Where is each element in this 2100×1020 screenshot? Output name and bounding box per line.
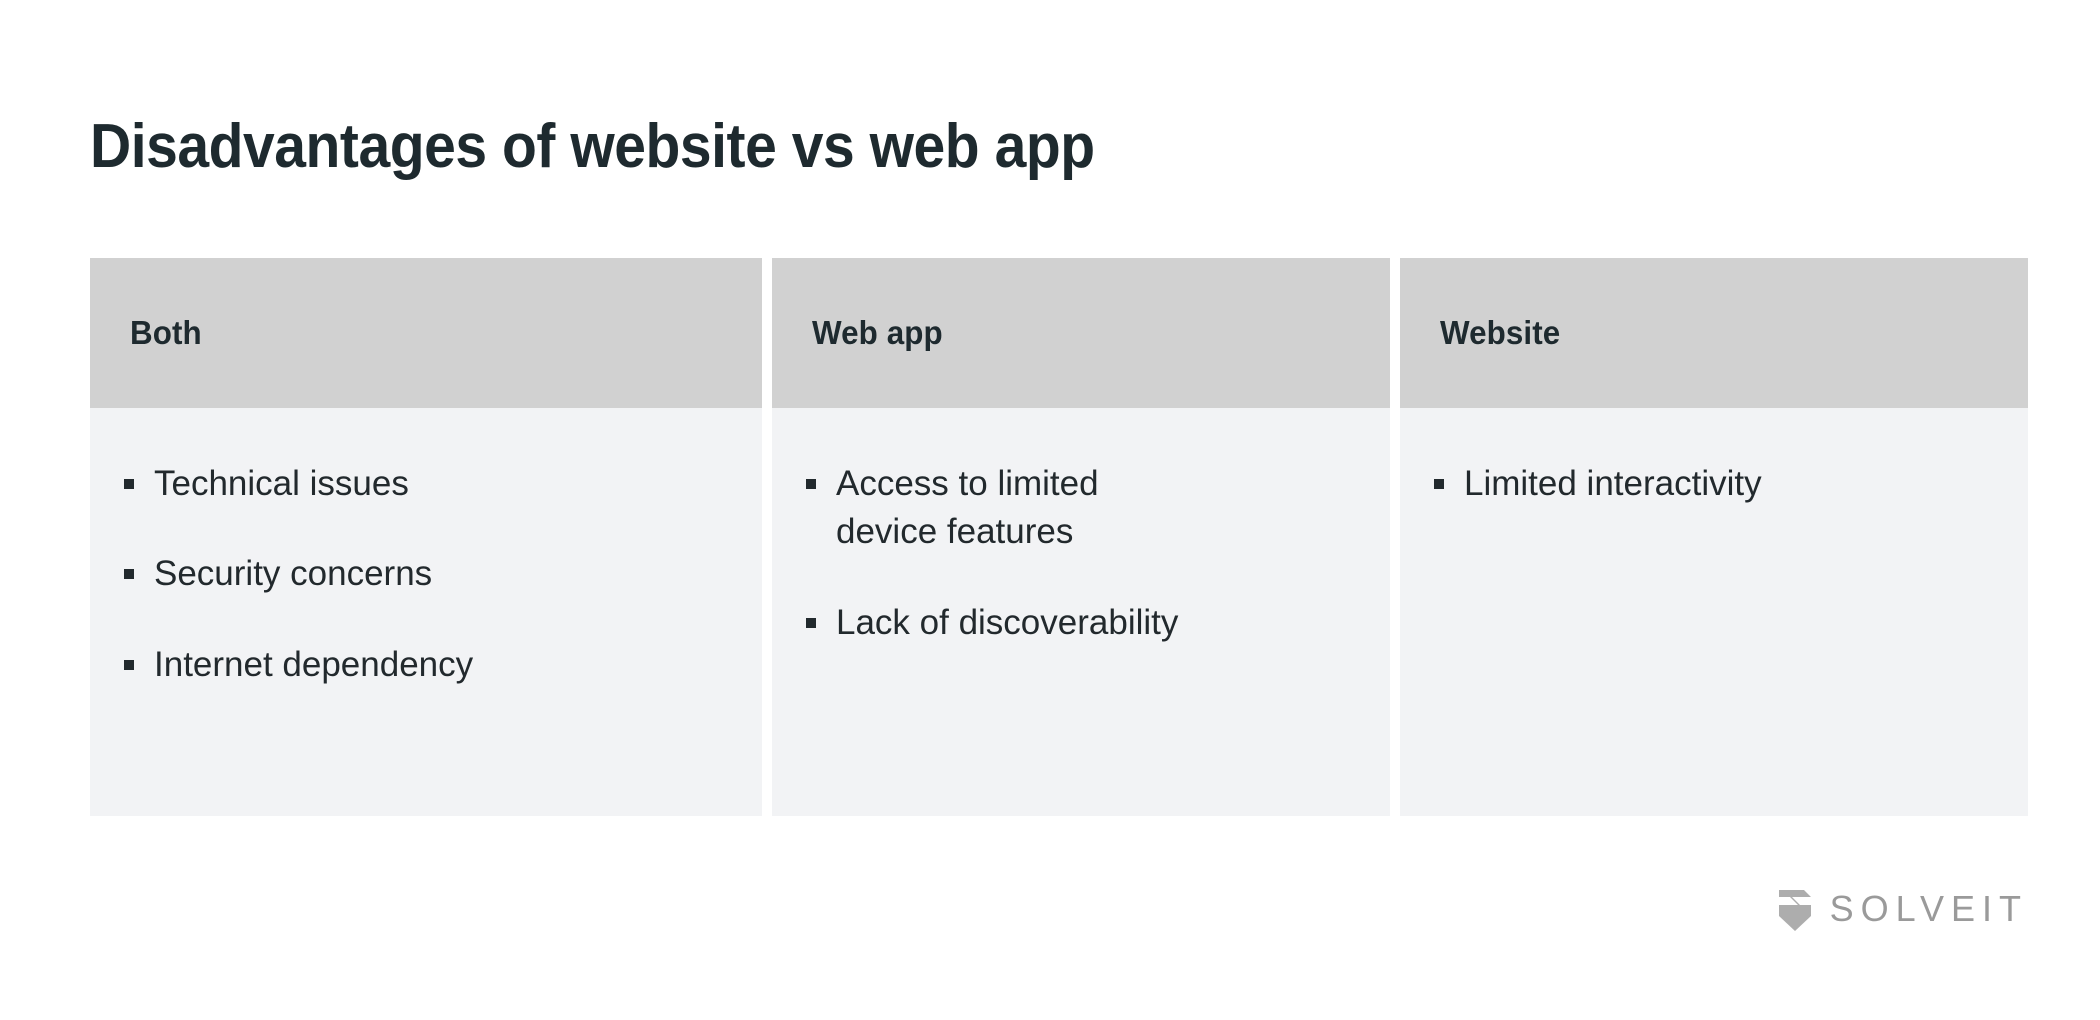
list-item-label: Internet dependency <box>154 641 728 689</box>
square-bullet-icon <box>806 479 816 489</box>
column-divider <box>762 258 772 408</box>
bullet-list-web-app: Access to limited device features Lack o… <box>806 460 1356 647</box>
table-header-cell-website: Website <box>1400 258 2028 408</box>
column-header-label: Web app <box>812 314 943 352</box>
list-item: Limited interactivity <box>1434 460 1994 508</box>
solveit-diamond-icon <box>1774 886 1816 932</box>
table-cell-both: Technical issues Security concerns Inter… <box>90 408 762 816</box>
list-item: Lack of discoverability <box>806 599 1356 647</box>
table-cell-website: Limited interactivity <box>1400 408 2028 816</box>
list-item: Technical issues <box>124 460 728 508</box>
table-header-cell-both: Both <box>90 258 762 408</box>
column-header-label: Both <box>130 314 202 352</box>
list-item-label: Security concerns <box>154 550 728 598</box>
column-divider <box>762 408 772 816</box>
brand-logo: SOLVEIT <box>1774 886 2028 932</box>
list-item-label: Access to limited device features <box>836 460 1166 557</box>
list-item-label: Lack of discoverability <box>836 599 1356 647</box>
square-bullet-icon <box>124 569 134 579</box>
list-item: Security concerns <box>124 550 728 598</box>
comparison-table: Both Web app Website Technical issues <box>90 258 2028 816</box>
column-divider <box>1390 258 1400 408</box>
list-item: Access to limited device features <box>806 460 1356 557</box>
column-header-label: Website <box>1440 314 1560 352</box>
column-divider <box>1390 408 1400 816</box>
table-header-row: Both Web app Website <box>90 258 2028 408</box>
page-title: Disadvantages of website vs web app <box>90 114 1838 180</box>
table-cell-web-app: Access to limited device features Lack o… <box>772 408 1390 816</box>
list-item: Internet dependency <box>124 641 728 689</box>
list-item-label: Limited interactivity <box>1464 460 1994 508</box>
bullet-list-website: Limited interactivity <box>1434 460 1994 508</box>
brand-name-label: SOLVEIT <box>1830 888 2028 930</box>
square-bullet-icon <box>124 479 134 489</box>
table-header-cell-web-app: Web app <box>772 258 1390 408</box>
bullet-list-both: Technical issues Security concerns Inter… <box>124 460 728 689</box>
list-item-label: Technical issues <box>154 460 728 508</box>
square-bullet-icon <box>124 660 134 670</box>
table-body-row: Technical issues Security concerns Inter… <box>90 408 2028 816</box>
square-bullet-icon <box>806 618 816 628</box>
square-bullet-icon <box>1434 479 1444 489</box>
slide-canvas: Disadvantages of website vs web app Both… <box>0 0 2100 1020</box>
